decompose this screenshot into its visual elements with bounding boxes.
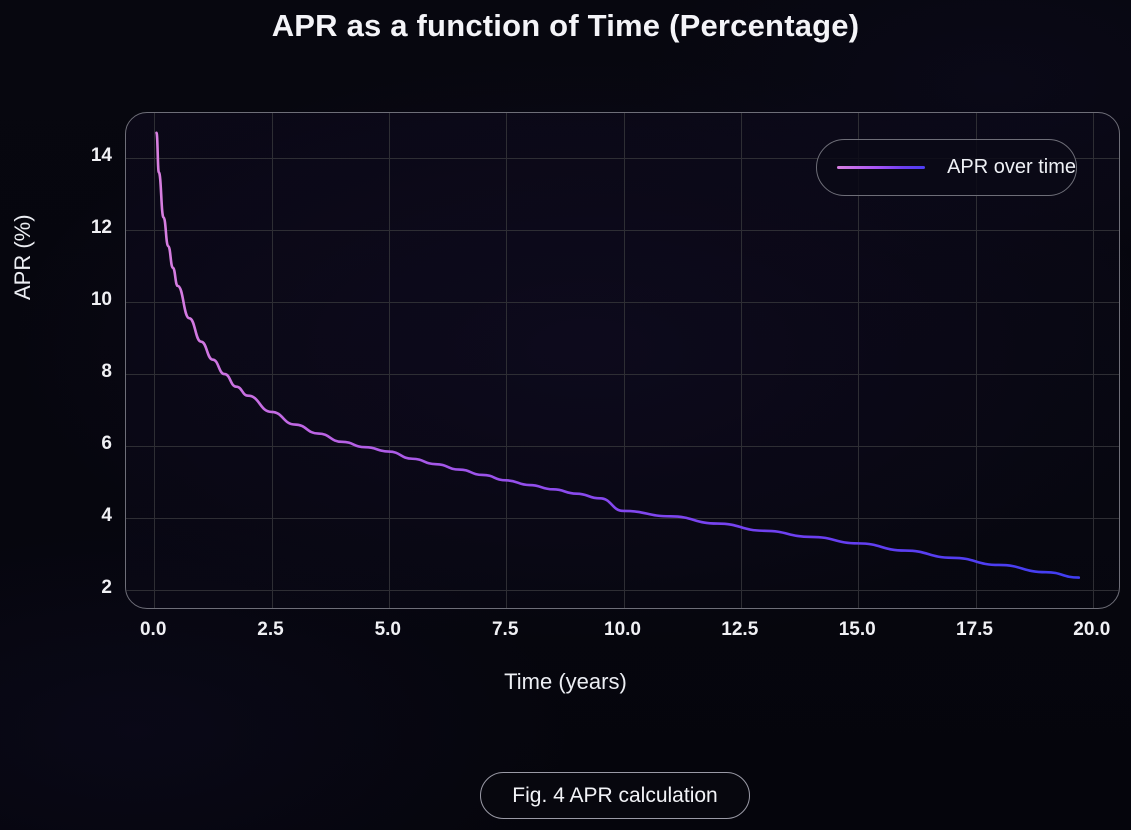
y-tick-label: 14 <box>60 145 112 167</box>
x-tick-label: 12.5 <box>695 619 785 641</box>
y-tick-label: 4 <box>60 505 112 527</box>
y-axis-label: APR (%) <box>10 214 36 300</box>
chart-title: APR as a function of Time (Percentage) <box>0 8 1131 44</box>
y-tick-label: 12 <box>60 217 112 239</box>
x-tick-label: 5.0 <box>343 619 433 641</box>
x-tick-label: 20.0 <box>1047 619 1131 641</box>
y-tick-label: 10 <box>60 289 112 311</box>
figure-caption-text: Fig. 4 APR calculation <box>512 784 717 808</box>
y-tick-label: 2 <box>60 577 112 599</box>
x-axis-label: Time (years) <box>0 669 1131 695</box>
x-tick-label: 17.5 <box>930 619 1020 641</box>
y-tick-label: 6 <box>60 433 112 455</box>
x-tick-label: 7.5 <box>460 619 550 641</box>
x-tick-label: 15.0 <box>812 619 902 641</box>
legend-label-apr-over-time: APR over time <box>947 156 1076 179</box>
chart-page: APR as a function of Time (Percentage) 2… <box>0 0 1131 830</box>
x-tick-label: 2.5 <box>226 619 316 641</box>
figure-caption: Fig. 4 APR calculation <box>480 772 750 819</box>
x-tick-label: 10.0 <box>578 619 668 641</box>
legend-swatch-apr-over-time <box>837 166 925 169</box>
legend[interactable]: APR over time <box>816 139 1077 196</box>
y-tick-label: 8 <box>60 361 112 383</box>
x-tick-label: 0.0 <box>108 619 198 641</box>
